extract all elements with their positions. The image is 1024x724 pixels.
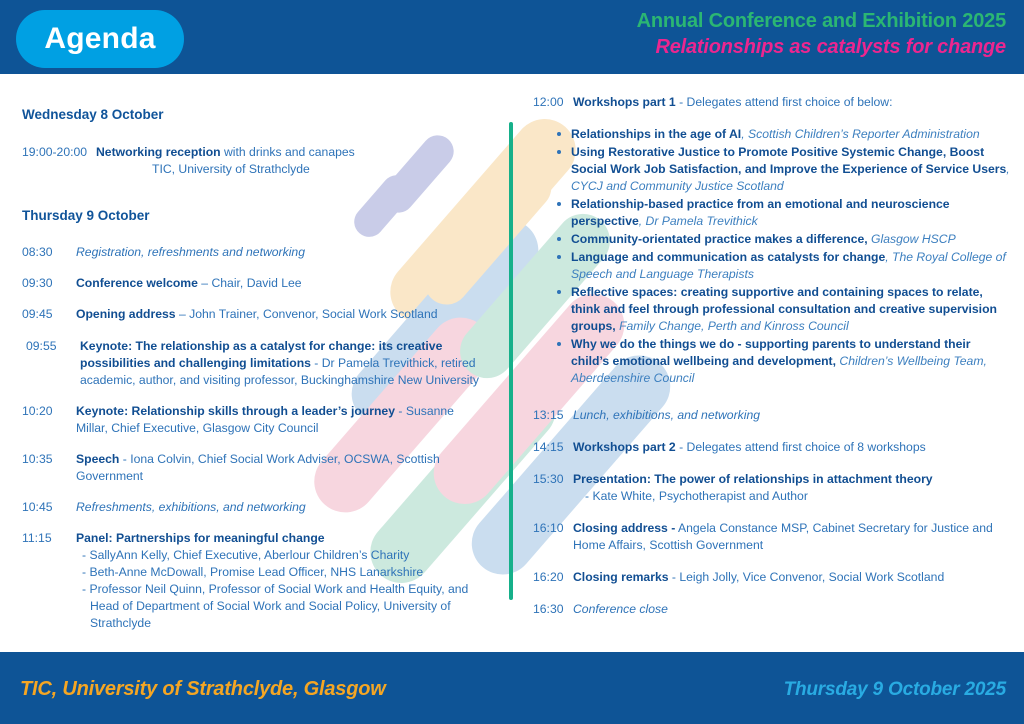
workshop-list-item: Why we do the things we do - supporting … [553, 336, 1010, 387]
agenda-item-body: Closing address - Angela Constance MSP, … [573, 520, 1010, 554]
agenda-item: 09:55Keynote: The relationship as a cata… [22, 338, 487, 389]
agenda-item-body: Registration, refreshments and networkin… [76, 244, 487, 261]
panelist-line: - Professor Neil Quinn, Professor of Soc… [76, 581, 487, 632]
agenda-item-time: 12:00 [533, 94, 573, 111]
agenda-item-body: Speech - Iona Colvin, Chief Social Work … [76, 451, 487, 485]
conference-title: Annual Conference and Exhibition 2025 [637, 9, 1006, 34]
agenda-item-body: Panel: Partnerships for meaningful chang… [76, 530, 487, 632]
panelist-line: - Beth-Anne McDowall, Promise Lead Offic… [76, 564, 487, 581]
agenda-item: 10:45Refreshments, exhibitions, and netw… [22, 499, 487, 516]
agenda-item: 12:00Workshops part 1 - Delegates attend… [533, 94, 1010, 111]
agenda-item-time: 09:45 [22, 306, 76, 323]
agenda-item-time: 14:15 [533, 439, 573, 456]
header-titles: Annual Conference and Exhibition 2025 Re… [637, 9, 1006, 60]
agenda-item-time: 09:30 [22, 275, 76, 292]
conference-subtitle: Relationships as catalysts for change [637, 34, 1006, 60]
agenda-item-body: Networking reception with drinks and can… [96, 144, 487, 178]
agenda-item-subline: TIC, University of Strathclyde [96, 161, 487, 178]
agenda-item-time: 16:30 [533, 601, 573, 618]
agenda-item: 10:35Speech - Iona Colvin, Chief Social … [22, 451, 487, 485]
agenda-item-body: Workshops part 1 - Delegates attend firs… [573, 94, 1010, 111]
agenda-item-body: Opening address – John Trainer, Convenor… [76, 306, 487, 323]
agenda-item-body: Lunch, exhibitions, and networking [573, 407, 1010, 424]
agenda-item-time: 10:35 [22, 451, 76, 468]
agenda-item-time: 19:00-20:00 [22, 144, 96, 161]
workshop-list-item: Relationship-based practice from an emot… [553, 196, 1010, 230]
agenda-item: 19:00-20:00Networking reception with dri… [22, 144, 487, 178]
agenda-item-time: 16:20 [533, 569, 573, 586]
agenda-item: 16:10Closing address - Angela Constance … [533, 520, 1010, 554]
right-column: 12:00Workshops part 1 - Delegates attend… [509, 74, 1024, 618]
agenda-item: 10:20Keynote: Relationship skills throug… [22, 403, 487, 437]
agenda-item-time: 10:45 [22, 499, 76, 516]
agenda-item-subline: - Kate White, Psychotherapist and Author [573, 488, 1010, 505]
workshop-list: Relationships in the age of AI, Scottish… [553, 126, 1010, 387]
agenda-item-time: 08:30 [22, 244, 76, 261]
agenda-item: 15:30Presentation: The power of relation… [533, 471, 1010, 505]
panelist-line: - SallyAnn Kelly, Chief Executive, Aberl… [76, 547, 487, 564]
agenda-item-body: Conference close [573, 601, 1010, 618]
agenda-item-body: Presentation: The power of relationships… [573, 471, 1010, 505]
footer-venue: TIC, University of Strathclyde, Glasgow [20, 678, 386, 701]
footer-date: Thursday 9 October 2025 [784, 679, 1006, 701]
agenda-item: 11:15Panel: Partnerships for meaningful … [22, 530, 487, 632]
day-heading: Wednesday 8 October [22, 107, 509, 122]
agenda-badge: Agenda [16, 10, 184, 68]
agenda-item: 16:20Closing remarks - Leigh Jolly, Vice… [533, 569, 1010, 586]
agenda-item: 08:30Registration, refreshments and netw… [22, 244, 487, 261]
agenda-item: 09:30Conference welcome – Chair, David L… [22, 275, 487, 292]
agenda-item: 14:15Workshops part 2 - Delegates attend… [533, 439, 1010, 456]
footer-bar: TIC, University of Strathclyde, Glasgow … [0, 652, 1024, 724]
left-column: Wednesday 8 October19:00-20:00Networking… [0, 74, 509, 632]
day-heading: Thursday 9 October [22, 208, 509, 223]
header-bar: Agenda Annual Conference and Exhibition … [0, 0, 1024, 74]
agenda-item-body: Keynote: Relationship skills through a l… [76, 403, 487, 437]
agenda-item: 16:30Conference close [533, 601, 1010, 618]
workshop-list-item: Language and communication as catalysts … [553, 249, 1010, 283]
agenda-item-body: Refreshments, exhibitions, and networkin… [76, 499, 487, 516]
workshop-list-item: Reflective spaces: creating supportive a… [553, 284, 1010, 335]
agenda-item-body: Keynote: The relationship as a catalyst … [80, 338, 487, 389]
workshop-list-item: Relationships in the age of AI, Scottish… [553, 126, 1010, 143]
agenda-item-time: 13:15 [533, 407, 573, 424]
agenda-item-time: 10:20 [22, 403, 76, 420]
agenda-item: 09:45Opening address – John Trainer, Con… [22, 306, 487, 323]
agenda-item-body: Workshops part 2 - Delegates attend firs… [573, 439, 1010, 456]
agenda-item-time: 15:30 [533, 471, 573, 488]
agenda-item-time: 11:15 [22, 530, 76, 547]
agenda-poster: Agenda Annual Conference and Exhibition … [0, 0, 1024, 724]
agenda-item-body: Closing remarks - Leigh Jolly, Vice Conv… [573, 569, 1010, 586]
agenda-item-time: 16:10 [533, 520, 573, 537]
agenda-item-time: 09:55 [22, 338, 80, 355]
workshop-list-item: Using Restorative Justice to Promote Pos… [553, 144, 1010, 195]
agenda-item-body: Conference welcome – Chair, David Lee [76, 275, 487, 292]
agenda-badge-label: Agenda [44, 22, 155, 56]
agenda-item: 13:15Lunch, exhibitions, and networking [533, 407, 1010, 424]
workshop-list-item: Community-orientated practice makes a di… [553, 231, 1010, 248]
